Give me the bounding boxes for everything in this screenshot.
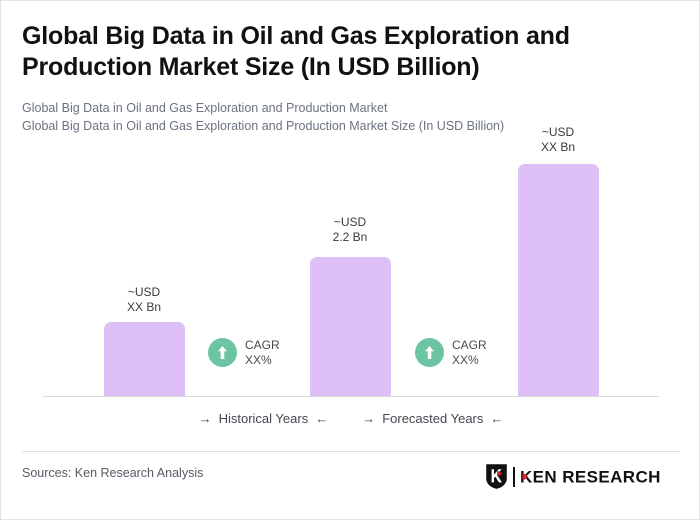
- bar-value-label-line-1: ~USD: [290, 215, 410, 230]
- cagr-value: XX%: [452, 353, 487, 368]
- bar-series-2[interactable]: [310, 257, 391, 396]
- bar-series-3[interactable]: [518, 164, 599, 396]
- page-title: Global Big Data in Oil and Gas Explorati…: [22, 21, 662, 83]
- bar-value-label-line-2: XX Bn: [498, 140, 618, 155]
- cagr-badge[interactable]: CAGR XX%: [208, 338, 280, 367]
- arrow-left-icon: ←: [315, 411, 328, 426]
- arrow-left-icon: ←: [490, 411, 503, 426]
- bar-value-label-line-1: ~USD: [498, 125, 618, 140]
- legend-item-forecasted-years[interactable]: → Forecasted Years ←: [362, 411, 503, 426]
- legend-label-forecasted-years: Forecasted Years: [382, 411, 483, 426]
- arrow-right-icon: →: [199, 411, 212, 426]
- bar-value-label: ~USD XX Bn: [84, 285, 204, 314]
- legend-item-historical-years[interactable]: → Historical Years ←: [199, 411, 329, 426]
- cagr-badge[interactable]: CAGR XX%: [415, 338, 487, 367]
- bar-value-label-line-1: ~USD: [84, 285, 204, 300]
- axis-baseline: [43, 396, 659, 397]
- ken-research-logo: KEN RESEARCH: [485, 463, 682, 490]
- footer-divider: [22, 451, 680, 452]
- bar-value-label-line-2: XX Bn: [84, 300, 204, 315]
- cagr-label: CAGR: [245, 338, 280, 353]
- bar-value-label-line-2: 2.2 Bn: [290, 230, 410, 245]
- bar-value-label: ~USD 2.2 Bn: [290, 215, 410, 244]
- bar-value-label: ~USD XX Bn: [498, 125, 618, 154]
- arrow-right-icon: →: [362, 411, 375, 426]
- ken-research-logo-mark: [485, 463, 508, 490]
- svg-text:KEN RESEARCH: KEN RESEARCH: [520, 467, 661, 486]
- legend-label-historical-years: Historical Years: [219, 411, 309, 426]
- arrow-up-icon: [415, 338, 444, 367]
- cagr-badge-text: CAGR XX%: [245, 338, 280, 367]
- cagr-value: XX%: [245, 353, 280, 368]
- logo-separator: [513, 467, 515, 487]
- chart-canvas: Global Big Data in Oil and Gas Explorati…: [0, 0, 700, 520]
- ken-research-wordmark: KEN RESEARCH: [520, 466, 682, 488]
- arrow-up-icon: [208, 338, 237, 367]
- period-legend: → Historical Years ← → Forecasted Years …: [1, 411, 700, 426]
- cagr-label: CAGR: [452, 338, 487, 353]
- subtitle-line-1: Global Big Data in Oil and Gas Explorati…: [22, 99, 682, 117]
- cagr-badge-text: CAGR XX%: [452, 338, 487, 367]
- sources-text: Sources: Ken Research Analysis: [22, 466, 203, 480]
- bar-series-1[interactable]: [104, 322, 185, 396]
